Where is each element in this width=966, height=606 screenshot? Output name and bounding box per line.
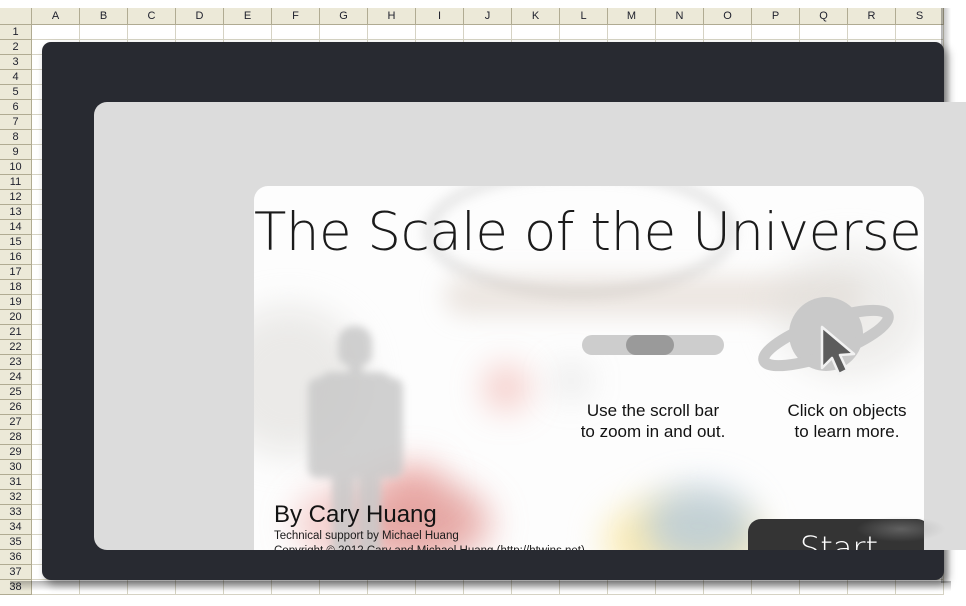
column-header-a[interactable]: A bbox=[32, 8, 80, 25]
row-header-29[interactable]: 29 bbox=[0, 445, 32, 460]
row-header-24[interactable]: 24 bbox=[0, 370, 32, 385]
cell-I1[interactable] bbox=[416, 25, 464, 40]
row-header-21[interactable]: 21 bbox=[0, 325, 32, 340]
column-header-d[interactable]: D bbox=[176, 8, 224, 25]
row-header-column: 1234567891011121314151617181920212223242… bbox=[0, 25, 32, 595]
app-gray-panel: The Scale of the Universe 2 bbox=[94, 102, 966, 550]
row-header-6[interactable]: 6 bbox=[0, 100, 32, 115]
instruction-click-line1: Click on objects bbox=[764, 400, 924, 421]
row-header-15[interactable]: 15 bbox=[0, 235, 32, 250]
cell-Q1[interactable] bbox=[800, 25, 848, 40]
instruction-click-line2: to learn more. bbox=[764, 421, 924, 442]
credit-line-support: Technical support by Michael Huang bbox=[274, 529, 674, 544]
cell-L1[interactable] bbox=[560, 25, 608, 40]
row-header-22[interactable]: 22 bbox=[0, 340, 32, 355]
row-header-11[interactable]: 11 bbox=[0, 175, 32, 190]
column-header-l[interactable]: L bbox=[560, 8, 608, 25]
row-header-37[interactable]: 37 bbox=[0, 565, 32, 580]
row-header-1[interactable]: 1 bbox=[0, 25, 32, 40]
column-header-b[interactable]: B bbox=[80, 8, 128, 25]
column-header-f[interactable]: F bbox=[272, 8, 320, 25]
sheet-shadow-bottom bbox=[10, 581, 951, 591]
select-all-corner[interactable] bbox=[0, 8, 32, 25]
row-header-3[interactable]: 3 bbox=[0, 55, 32, 70]
start-button[interactable]: Start bbox=[748, 519, 924, 550]
row-header-13[interactable]: 13 bbox=[0, 205, 32, 220]
column-header-c[interactable]: C bbox=[128, 8, 176, 25]
cell-B1[interactable] bbox=[80, 25, 128, 40]
column-header-n[interactable]: N bbox=[656, 8, 704, 25]
cell-D1[interactable] bbox=[176, 25, 224, 40]
cell-G1[interactable] bbox=[320, 25, 368, 40]
page-title: The Scale of the Universe 2 bbox=[254, 202, 924, 264]
row-header-16[interactable]: 16 bbox=[0, 250, 32, 265]
row-header-2[interactable]: 2 bbox=[0, 40, 32, 55]
row-header-35[interactable]: 35 bbox=[0, 535, 32, 550]
credit-line-copyright: Copyright © 2012 Cary and Michael Huang … bbox=[274, 544, 674, 550]
instruction-scrollbar: Use the scroll bar to zoom in and out. bbox=[554, 400, 752, 442]
row-header-33[interactable]: 33 bbox=[0, 505, 32, 520]
saturn-planet-icon bbox=[754, 286, 904, 386]
embedded-app-frame: The Scale of the Universe 2 bbox=[42, 42, 944, 580]
row-header-34[interactable]: 34 bbox=[0, 520, 32, 535]
row-header-20[interactable]: 20 bbox=[0, 310, 32, 325]
cell-R1[interactable] bbox=[848, 25, 896, 40]
column-header-h[interactable]: H bbox=[368, 8, 416, 25]
row-header-26[interactable]: 26 bbox=[0, 400, 32, 415]
row-header-25[interactable]: 25 bbox=[0, 385, 32, 400]
cell-M1[interactable] bbox=[608, 25, 656, 40]
cell-K1[interactable] bbox=[512, 25, 560, 40]
start-button-label: Start bbox=[800, 529, 878, 550]
instruction-scrollbar-line1: Use the scroll bar bbox=[554, 400, 752, 421]
row-header-7[interactable]: 7 bbox=[0, 115, 32, 130]
column-header-g[interactable]: G bbox=[320, 8, 368, 25]
grid-row bbox=[32, 25, 944, 40]
row-header-23[interactable]: 23 bbox=[0, 355, 32, 370]
row-header-12[interactable]: 12 bbox=[0, 190, 32, 205]
row-header-8[interactable]: 8 bbox=[0, 130, 32, 145]
cell-P1[interactable] bbox=[752, 25, 800, 40]
cell-F1[interactable] bbox=[272, 25, 320, 40]
instruction-click: Click on objects to learn more. bbox=[764, 400, 924, 442]
row-header-17[interactable]: 17 bbox=[0, 265, 32, 280]
column-header-row: ABCDEFGHIJKLMNOPQRS bbox=[32, 8, 944, 25]
column-header-o[interactable]: O bbox=[704, 8, 752, 25]
column-header-q[interactable]: Q bbox=[800, 8, 848, 25]
row-header-31[interactable]: 31 bbox=[0, 475, 32, 490]
cell-A1[interactable] bbox=[32, 25, 80, 40]
row-header-19[interactable]: 19 bbox=[0, 295, 32, 310]
row-header-4[interactable]: 4 bbox=[0, 70, 32, 85]
background-blob-gray bbox=[554, 366, 588, 396]
row-header-27[interactable]: 27 bbox=[0, 415, 32, 430]
column-header-s[interactable]: S bbox=[896, 8, 944, 25]
column-header-e[interactable]: E bbox=[224, 8, 272, 25]
cell-O1[interactable] bbox=[704, 25, 752, 40]
scrollbar-icon[interactable] bbox=[582, 335, 724, 355]
column-header-k[interactable]: K bbox=[512, 8, 560, 25]
cell-C1[interactable] bbox=[128, 25, 176, 40]
cell-S1[interactable] bbox=[896, 25, 944, 40]
row-header-10[interactable]: 10 bbox=[0, 160, 32, 175]
row-header-5[interactable]: 5 bbox=[0, 85, 32, 100]
mouse-cursor-icon bbox=[816, 324, 862, 380]
credits-block: By Cary Huang Technical support by Micha… bbox=[274, 501, 674, 550]
cell-H1[interactable] bbox=[368, 25, 416, 40]
column-header-m[interactable]: M bbox=[608, 8, 656, 25]
column-header-j[interactable]: J bbox=[464, 8, 512, 25]
column-header-i[interactable]: I bbox=[416, 8, 464, 25]
row-header-14[interactable]: 14 bbox=[0, 220, 32, 235]
column-header-r[interactable]: R bbox=[848, 8, 896, 25]
row-header-9[interactable]: 9 bbox=[0, 145, 32, 160]
scrollbar-thumb[interactable] bbox=[626, 335, 674, 355]
row-header-28[interactable]: 28 bbox=[0, 430, 32, 445]
instruction-scrollbar-line2: to zoom in and out. bbox=[554, 421, 752, 442]
credit-author: By Cary Huang bbox=[274, 501, 674, 529]
row-header-18[interactable]: 18 bbox=[0, 280, 32, 295]
cell-N1[interactable] bbox=[656, 25, 704, 40]
background-blob-pink-a bbox=[484, 366, 528, 410]
row-header-36[interactable]: 36 bbox=[0, 550, 32, 565]
column-header-p[interactable]: P bbox=[752, 8, 800, 25]
row-header-30[interactable]: 30 bbox=[0, 460, 32, 475]
intro-card: The Scale of the Universe 2 bbox=[254, 186, 924, 550]
cell-J1[interactable] bbox=[464, 25, 512, 40]
cell-E1[interactable] bbox=[224, 25, 272, 40]
row-header-32[interactable]: 32 bbox=[0, 490, 32, 505]
